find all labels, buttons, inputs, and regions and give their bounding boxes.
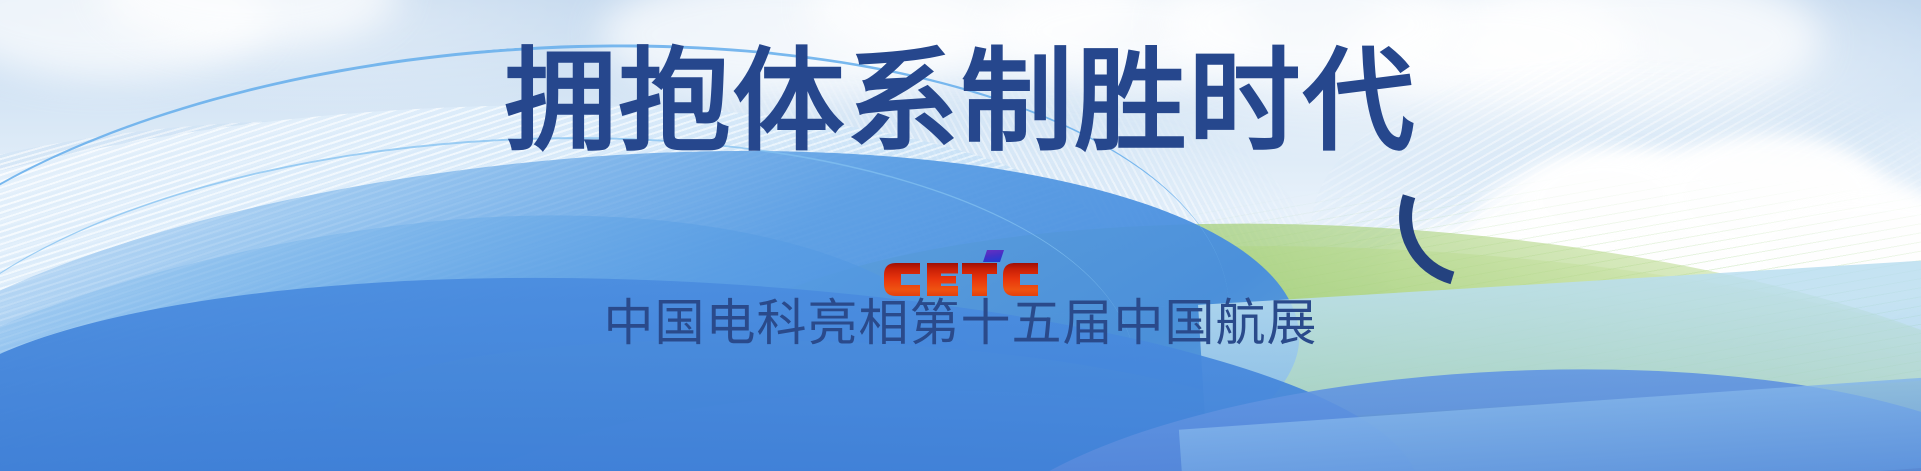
- banner-headline: 拥抱体系制胜时代: [0, 42, 1921, 163]
- banner-subtitle: 中国电科亮相第十五届中国航展: [0, 283, 1921, 355]
- banner-content: 拥抱体系制胜时代: [0, 0, 1921, 471]
- logo-accent-parallelogram: [983, 250, 1004, 262]
- cetc-airshow-banner: 拥抱体系制胜时代: [0, 0, 1921, 471]
